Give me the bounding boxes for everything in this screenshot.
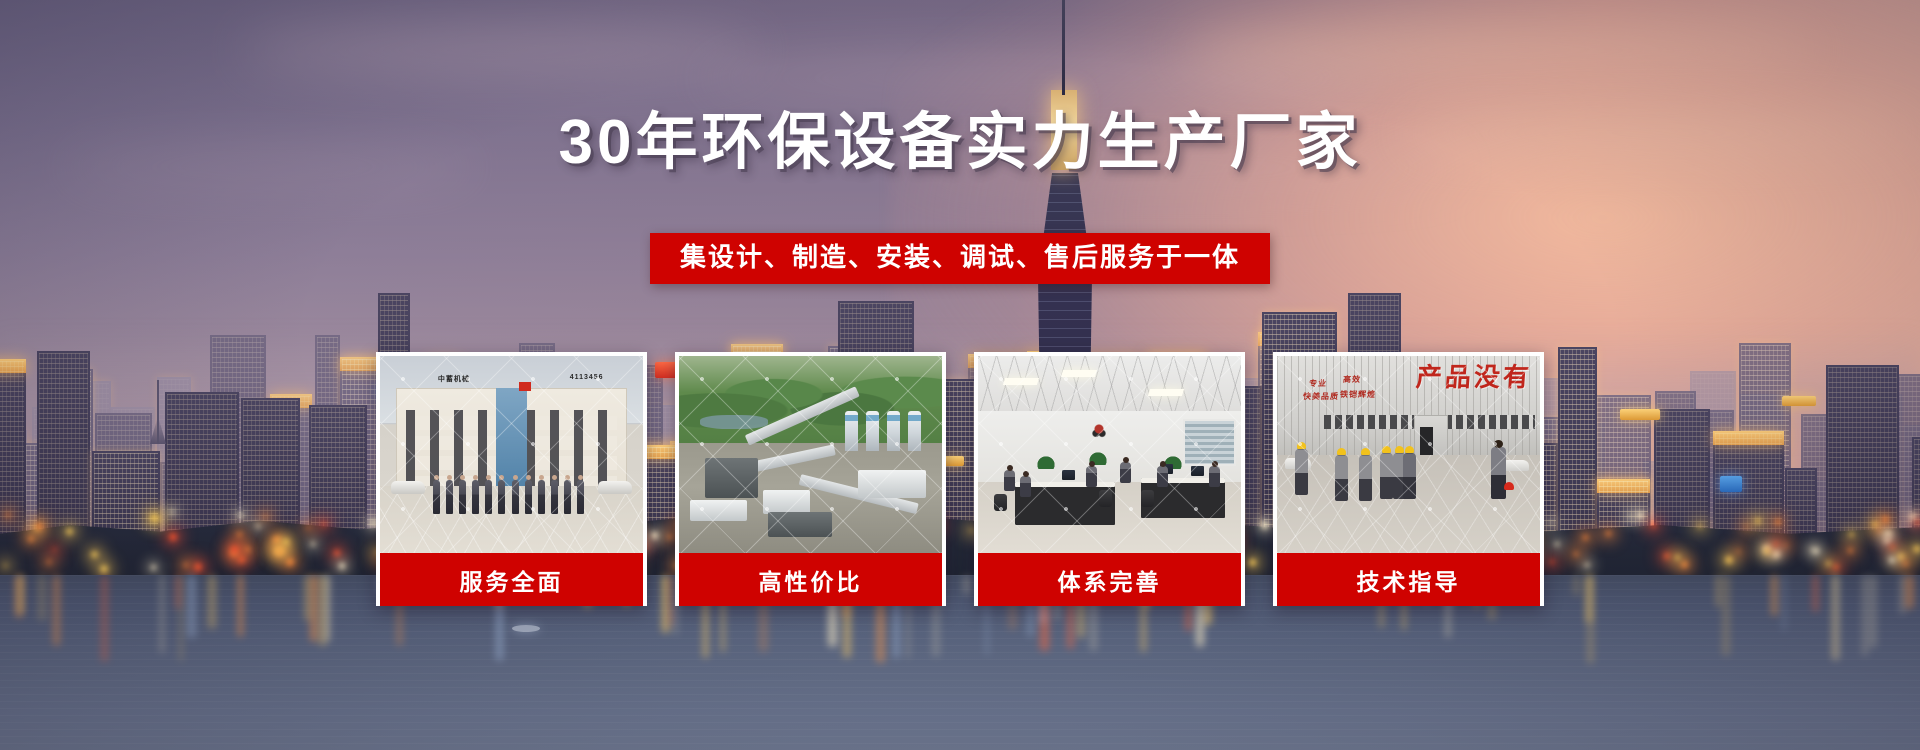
company-headquarters-building-photo: 中蓄机械 4113456 <box>380 356 643 553</box>
photo-company-logo-text: 中蓄机械 <box>438 374 470 384</box>
aerial-industrial-plant-photo <box>679 356 942 553</box>
feature-card[interactable]: 体系完善 <box>974 352 1245 606</box>
feature-card[interactable]: 中蓄机械 4113456 <box>376 352 647 606</box>
factory-workers-training-photo: 产品没有 专业 高效 快美品质 铁铠辉煌 <box>1277 356 1540 553</box>
banner-content: 30年环保设备实力生产厂家 集设计、制造、安装、调试、售后服务于一体 中蓄机械 … <box>0 0 1920 750</box>
office-workspace-photo <box>978 356 1241 553</box>
feature-card-caption: 体系完善 <box>978 553 1241 606</box>
feature-card[interactable]: 高性价比 <box>675 352 946 606</box>
feature-card-row: 中蓄机械 4113456 <box>376 352 1544 606</box>
banner-subtitle-ribbon: 集设计、制造、安装、调试、售后服务于一体 <box>650 233 1270 284</box>
factory-wall-slogan-small: 铁铠辉煌 <box>1340 389 1377 400</box>
window <box>1183 419 1236 466</box>
factory-wall-slogan-large: 产品没有 <box>1415 364 1533 390</box>
feature-card-caption: 高性价比 <box>679 553 942 606</box>
feature-card[interactable]: 产品没有 专业 高效 快美品质 铁铠辉煌 <box>1273 352 1544 606</box>
factory-wall-slogan-small: 专业 <box>1308 378 1327 389</box>
feature-card-caption: 技术指导 <box>1277 553 1540 606</box>
banner-subtitle-text: 集设计、制造、安装、调试、售后服务于一体 <box>680 242 1240 273</box>
banner-headline: 30年环保设备实力生产厂家 <box>0 112 1920 174</box>
hero-banner: 30年环保设备实力生产厂家 集设计、制造、安装、调试、售后服务于一体 中蓄机械 … <box>0 0 1920 750</box>
photo-phone-number-text: 4113456 <box>570 374 604 381</box>
factory-wall-slogan-small: 高效 <box>1342 374 1361 385</box>
wall-logo-art <box>1086 421 1112 441</box>
factory-wall-slogan-small: 快美品质 <box>1303 391 1340 402</box>
feature-card-caption: 服务全面 <box>380 553 643 606</box>
flag-icon <box>519 382 531 391</box>
